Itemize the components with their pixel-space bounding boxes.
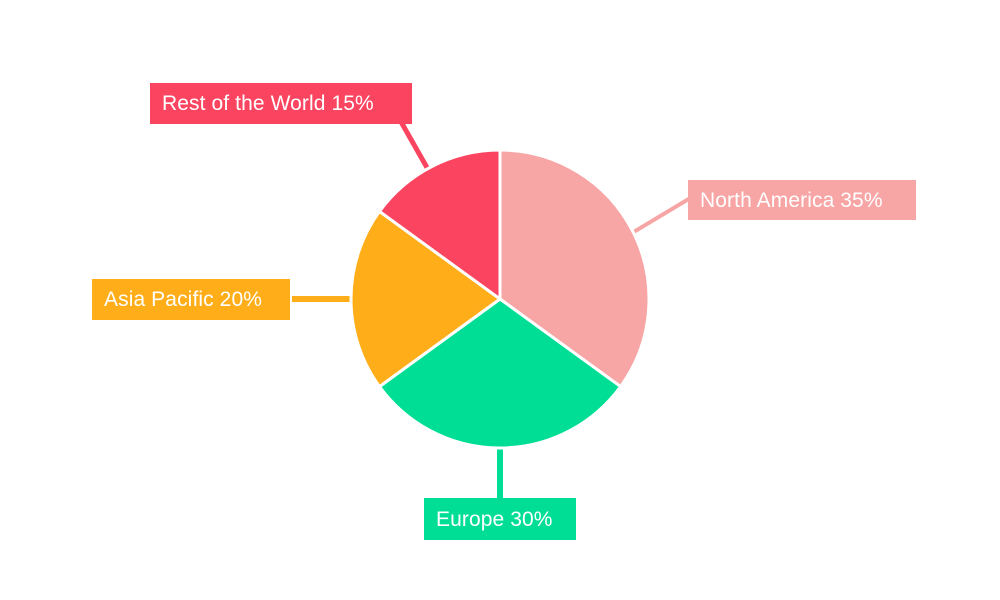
pie-label-north-america-text: North America 35% <box>700 190 883 211</box>
pie-label-north-america[interactable]: North America 35% <box>688 180 916 220</box>
pie-label-rest-of-world-text: Rest of the World 15% <box>162 93 374 114</box>
pie-label-rest-of-world[interactable]: Rest of the World 15% <box>150 83 412 124</box>
leader-line-north-america <box>632 197 692 233</box>
pie-chart-figure: North America 35% Europe 30% Asia Pacifi… <box>0 0 1000 600</box>
pie-label-asia-pacific[interactable]: Asia Pacific 20% <box>92 279 290 320</box>
pie-label-asia-pacific-text: Asia Pacific 20% <box>104 289 262 310</box>
pie-label-europe-text: Europe 30% <box>436 509 553 530</box>
pie-slices <box>351 150 649 448</box>
pie-label-europe[interactable]: Europe 30% <box>424 498 576 540</box>
